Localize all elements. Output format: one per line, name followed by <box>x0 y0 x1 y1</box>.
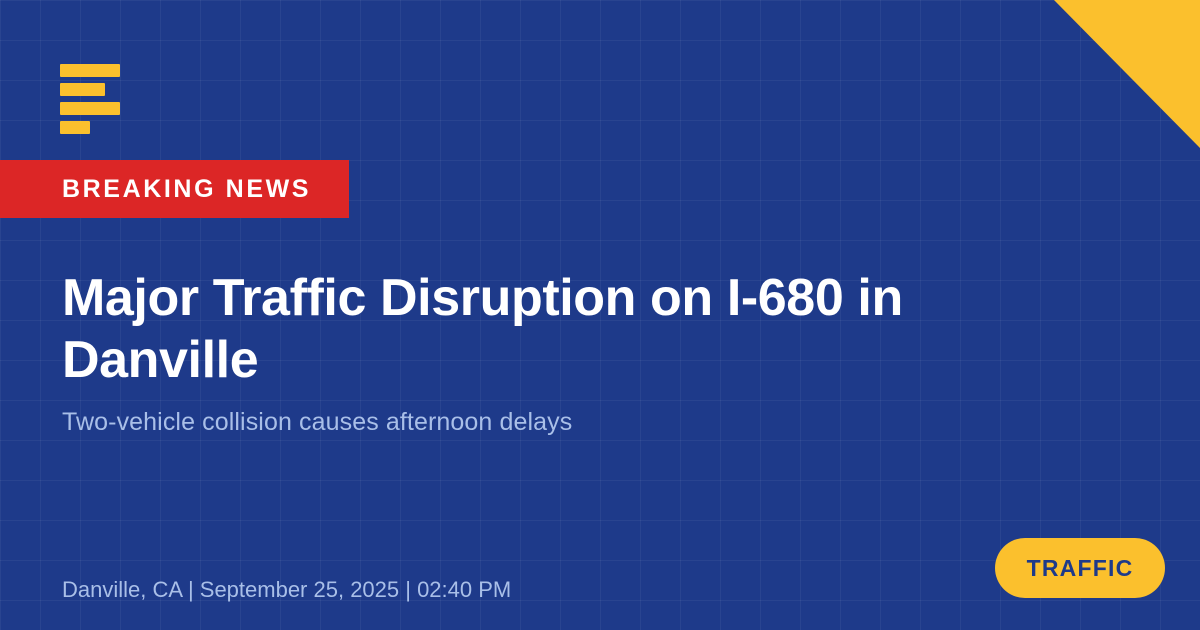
brand-bars-logo <box>60 64 120 134</box>
logo-bar-3 <box>60 102 120 115</box>
article-meta-line: Danville, CA | September 25, 2025 | 02:4… <box>62 576 511 604</box>
breaking-news-banner: BREAKING NEWS <box>0 160 349 218</box>
category-badge: TRAFFIC <box>995 538 1165 598</box>
category-badge-label: TRAFFIC <box>1027 557 1134 580</box>
subheadline: Two-vehicle collision causes afternoon d… <box>62 406 962 438</box>
breaking-news-label: BREAKING NEWS <box>62 177 311 202</box>
logo-bar-4 <box>60 121 90 134</box>
headline: Major Traffic Disruption on I-680 in Dan… <box>62 267 1072 391</box>
corner-triangle-decoration <box>1054 0 1200 148</box>
logo-bar-2 <box>60 83 105 96</box>
logo-bar-1 <box>60 64 120 77</box>
breaking-news-card: BREAKING NEWS Major Traffic Disruption o… <box>0 0 1200 630</box>
